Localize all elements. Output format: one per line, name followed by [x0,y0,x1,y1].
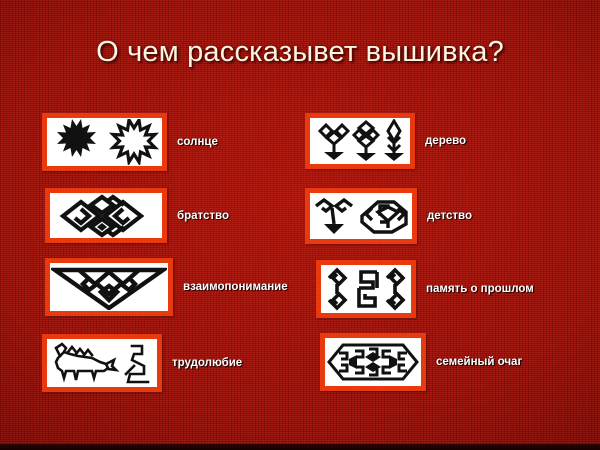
item-diligence: трудолюбие [42,334,242,392]
item-label: братство [177,210,229,222]
item-label: дерево [425,135,466,147]
embroidery-family-hearth-motif [320,333,426,391]
bottom-edge-band [0,444,600,450]
slide-canvas: О чем рассказывет вышивка? солнце [0,0,600,450]
item-tree: дерево [305,113,466,169]
item-family-hearth: семейный очаг [320,333,522,391]
item-brotherhood: братство [45,188,229,243]
page-title: О чем рассказывет вышивка? [0,36,600,69]
item-label: взаимопонимание [183,281,288,293]
item-label: память о прошлом [426,283,534,295]
embroidery-mutual-understanding-triangle-motif [45,258,173,316]
embroidery-brotherhood-rhombus-motif [45,188,167,243]
embroidery-sun-stars-motif [42,113,167,171]
embroidery-diligence-horse-motif [42,334,162,392]
item-memory-of-the-past: память о прошлом [316,260,534,318]
embroidery-memory-spiral-motif [316,260,416,318]
item-childhood: детство [305,188,472,244]
item-label: семейный очаг [436,356,522,368]
item-label: солнце [177,136,218,148]
embroidery-tree-motif [305,113,415,169]
item-sun: солнце [42,113,218,171]
item-label: детство [427,210,472,222]
embroidery-childhood-motif [305,188,417,244]
item-mutual-understanding: взаимопонимание [45,258,288,316]
item-label: трудолюбие [172,357,242,369]
